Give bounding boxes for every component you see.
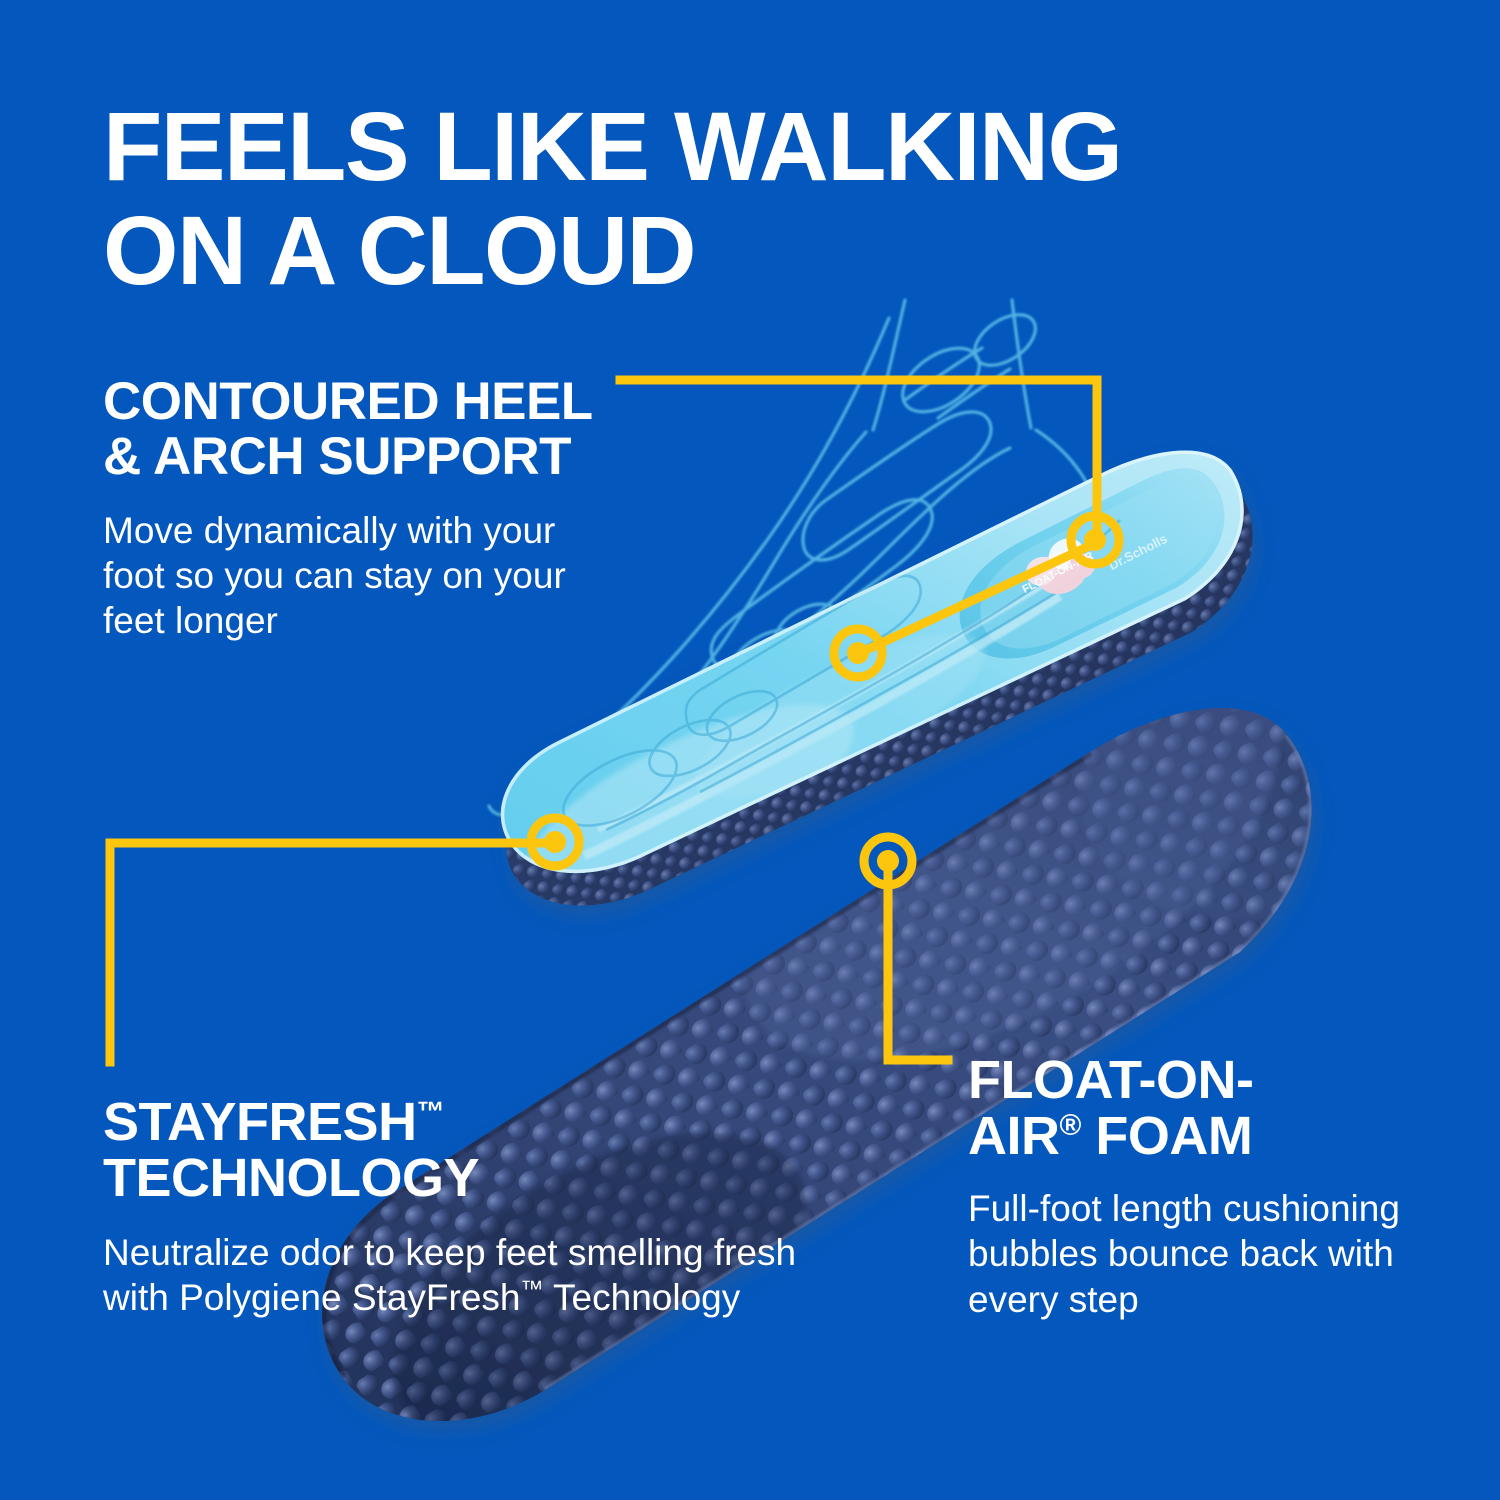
callout-line-heel: [620, 380, 1097, 538]
foam-insole: [280, 577, 1400, 1500]
callout-marker-heel: [1071, 516, 1119, 564]
feature-float-on-air-foam: FLOAT-ON- AIR® FOAM Full-foot length cus…: [968, 1052, 1418, 1322]
feature-body-contoured: Move dynamically with your foot so you c…: [103, 508, 623, 643]
callout-marker-stayfresh: [531, 818, 579, 866]
headline-line-1: FEELS LIKE WALKING: [103, 92, 1121, 201]
callout-line-stayfresh: [110, 843, 556, 1062]
feature-title-float: FLOAT-ON- AIR® FOAM: [968, 1052, 1418, 1164]
svg-text:FLOAT-ON-AIR: FLOAT-ON-AIR: [1021, 550, 1096, 596]
svg-text:Dr.Scholls: Dr.Scholls: [1106, 531, 1169, 573]
callout-line-arch: [862, 548, 1085, 652]
trademark-icon: ™: [417, 1096, 445, 1127]
feature-title-stayfresh: STAYFRESH™ TECHNOLOGY: [103, 1094, 803, 1206]
feature-body-float: Full-foot length cushioning bubbles boun…: [968, 1186, 1418, 1321]
trademark-icon-body: ™: [520, 1276, 543, 1302]
float-title-air: AIR: [968, 1106, 1060, 1166]
float-title-foam: FOAM: [1081, 1106, 1252, 1166]
feature-body-stayfresh: Neutralize odor to keep feet smelling fr…: [103, 1230, 803, 1320]
callout-marker-foam: [864, 837, 912, 885]
headline-line-2: ON A CLOUD: [103, 199, 1393, 303]
float-on-air-brand-mark: FLOAT-ON-AIR: [1011, 530, 1103, 610]
stayfresh-title-rest: TECHNOLOGY: [103, 1148, 479, 1208]
float-title-line1: FLOAT-ON-: [968, 1050, 1253, 1110]
registered-trademark-icon: ®: [1060, 1109, 1081, 1142]
feature-contoured-heel-arch: CONTOURED HEEL & ARCH SUPPORT Move dynam…: [103, 374, 623, 644]
callout-line-foam: [888, 862, 948, 1060]
feature-title-contoured: CONTOURED HEEL & ARCH SUPPORT: [103, 374, 623, 484]
callout-marker-arch: [834, 629, 882, 677]
page-headline: FEELS LIKE WALKING ON A CLOUD: [103, 95, 1393, 303]
feature-stayfresh-technology: STAYFRESH™ TECHNOLOGY Neutralize odor to…: [103, 1094, 803, 1321]
infographic-canvas: FLOAT-ON-AIR Dr.Scholls: [0, 0, 1500, 1500]
stayfresh-title-main: STAYFRESH: [103, 1092, 417, 1152]
stayfresh-body-part2: Technology: [543, 1277, 740, 1318]
gel-heel-logo-arc: Dr.Scholls: [1106, 531, 1169, 573]
